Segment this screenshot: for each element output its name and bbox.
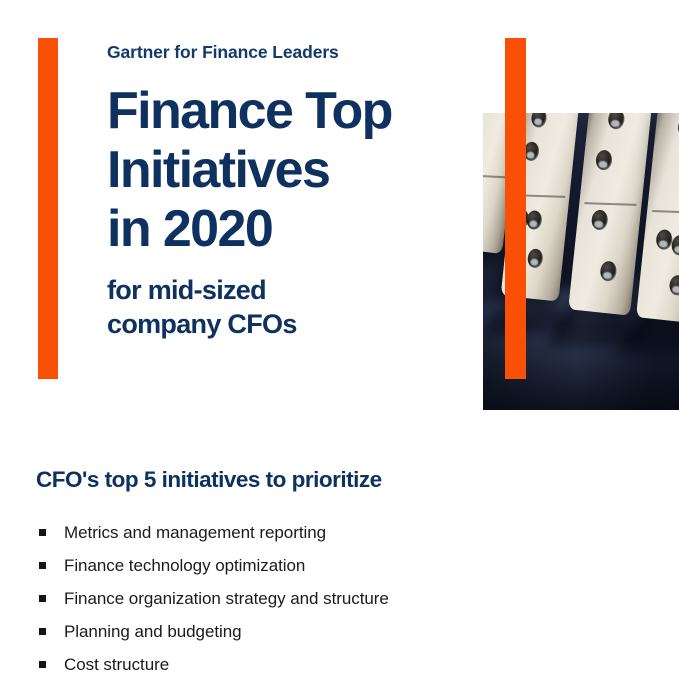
list-item-label: Cost structure: [64, 654, 169, 676]
square-bullet-icon: [39, 661, 46, 668]
square-bullet-icon: [39, 562, 46, 569]
hero-text-block: Gartner for Finance Leaders Finance Top …: [107, 40, 487, 341]
list-item: Metrics and management reporting: [36, 516, 636, 549]
initiatives-list: Metrics and management reporting Finance…: [36, 516, 636, 681]
list-item-label: Finance organization strategy and struct…: [64, 588, 389, 610]
square-bullet-icon: [39, 595, 46, 602]
initiatives-heading: CFO's top 5 initiatives to prioritize: [36, 466, 636, 494]
hero-eyebrow: Gartner for Finance Leaders: [107, 40, 487, 64]
list-item-label: Planning and budgeting: [64, 621, 242, 643]
hero-subtitle: for mid-sized company CFOs: [107, 273, 487, 341]
list-item-label: Metrics and management reporting: [64, 522, 326, 544]
document-page: Gartner for Finance Leaders Finance Top …: [0, 0, 679, 682]
hero-banner: Gartner for Finance Leaders Finance Top …: [0, 0, 679, 420]
orange-accent-bar-left: [38, 38, 58, 379]
square-bullet-icon: [39, 529, 46, 536]
page-title: Finance Top Initiatives in 2020: [107, 82, 487, 259]
list-item: Finance organization strategy and struct…: [36, 582, 636, 615]
list-item: Cost structure: [36, 648, 636, 681]
list-item: Finance technology optimization: [36, 549, 636, 582]
list-item-label: Finance technology optimization: [64, 555, 305, 577]
list-item: Planning and budgeting: [36, 615, 636, 648]
orange-accent-bar-right: [505, 38, 526, 379]
square-bullet-icon: [39, 628, 46, 635]
initiatives-section: CFO's top 5 initiatives to prioritize Me…: [36, 466, 636, 681]
